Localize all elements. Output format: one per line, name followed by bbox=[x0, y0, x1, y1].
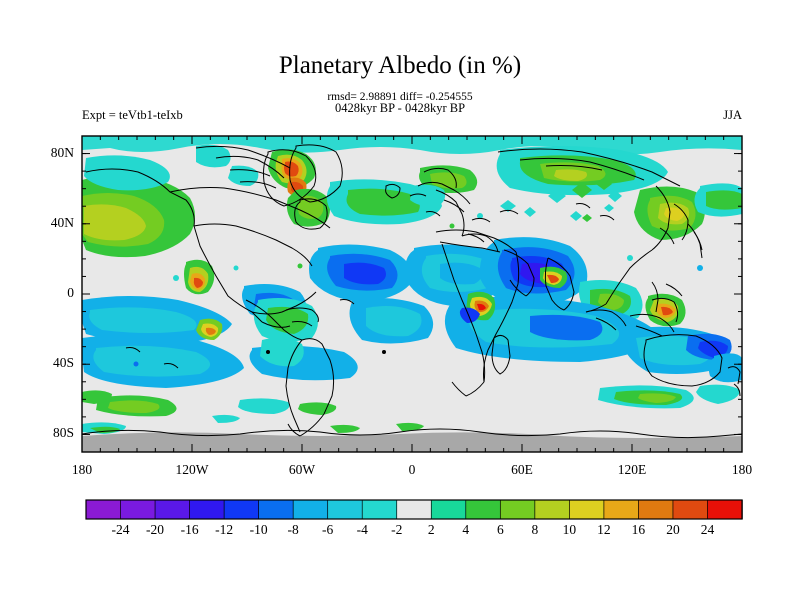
x-tick-label: 0 bbox=[377, 462, 447, 478]
colorbar-swatch[interactable] bbox=[535, 500, 570, 519]
colorbar-swatch[interactable] bbox=[362, 500, 397, 519]
colorbar-swatch[interactable] bbox=[673, 500, 708, 519]
y-tick-label: 0 bbox=[34, 285, 74, 301]
colorbar-swatch[interactable] bbox=[86, 500, 121, 519]
colorbar-swatch[interactable] bbox=[259, 500, 294, 519]
colorbar[interactable] bbox=[86, 500, 742, 519]
colorbar-swatch[interactable] bbox=[155, 500, 190, 519]
colorbar-swatch[interactable] bbox=[293, 500, 328, 519]
colorbar-swatch[interactable] bbox=[604, 500, 639, 519]
colorbar-swatch[interactable] bbox=[121, 500, 156, 519]
colorbar-swatch[interactable] bbox=[224, 500, 259, 519]
x-tick-label: 180 bbox=[707, 462, 777, 478]
colorbar-swatch[interactable] bbox=[190, 500, 225, 519]
colorbar-swatch[interactable] bbox=[638, 500, 673, 519]
map-plot bbox=[0, 0, 800, 600]
colorbar-swatch[interactable] bbox=[466, 500, 501, 519]
colorbar-swatch[interactable] bbox=[569, 500, 604, 519]
colorbar-swatch[interactable] bbox=[328, 500, 363, 519]
figure-canvas: Planetary Albedo (in %) rmsd= 2.98891 di… bbox=[0, 0, 800, 600]
x-tick-label: 60E bbox=[487, 462, 557, 478]
colorbar-swatch[interactable] bbox=[707, 500, 742, 519]
y-tick-label: 40N bbox=[34, 215, 74, 231]
x-tick-label: 60W bbox=[267, 462, 337, 478]
y-tick-label: 80N bbox=[34, 145, 74, 161]
colorbar-swatch[interactable] bbox=[431, 500, 466, 519]
x-tick-label: 120E bbox=[597, 462, 667, 478]
x-tick-label: 120W bbox=[157, 462, 227, 478]
colorbar-swatch[interactable] bbox=[500, 500, 535, 519]
x-tick-label: 180 bbox=[47, 462, 117, 478]
y-tick-label: 80S bbox=[34, 425, 74, 441]
colorbar-tick-label: 24 bbox=[687, 522, 727, 538]
y-tick-label: 40S bbox=[34, 355, 74, 371]
colorbar-swatch[interactable] bbox=[397, 500, 432, 519]
